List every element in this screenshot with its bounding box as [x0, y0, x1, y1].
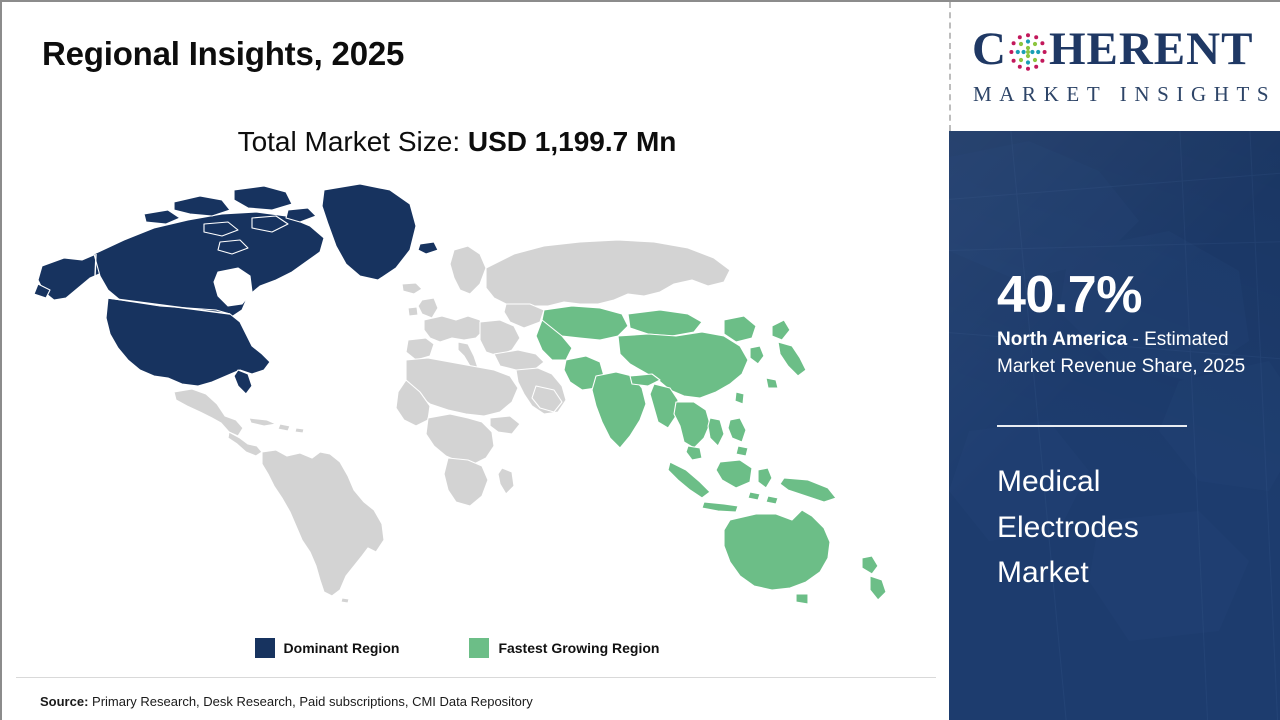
logo-letter-c: C	[972, 26, 1007, 73]
left-content-section: Regional Insights, 2025 Total Market Siz…	[2, 2, 949, 720]
stat-description: North America - Estimated Market Revenue…	[997, 327, 1265, 381]
stat-region-name: North America	[997, 329, 1127, 350]
legend-item-fastest-growing: Fastest Growing Region	[469, 638, 659, 658]
logo-letters-herent: HERENT	[1049, 26, 1254, 73]
panel-divider	[997, 425, 1187, 427]
source-divider	[16, 677, 936, 678]
section-divider	[949, 2, 951, 131]
map-region-asia-pacific	[536, 306, 886, 604]
globe-dots-icon	[1008, 32, 1048, 72]
source-label: Source:	[40, 694, 88, 709]
world-map	[24, 180, 904, 620]
stat-percentage: 40.7%	[997, 269, 1142, 321]
source-text: Primary Research, Desk Research, Paid su…	[88, 694, 532, 709]
legend-item-dominant: Dominant Region	[255, 638, 400, 658]
legend-swatch-fastest-growing-icon	[469, 638, 489, 658]
map-region-other	[174, 240, 730, 603]
logo-wordmark: C	[972, 26, 1253, 73]
total-market-size-label: Total Market Size:	[238, 126, 468, 157]
source-note: Source: Primary Research, Desk Research,…	[40, 694, 533, 709]
legend-swatch-dominant-icon	[255, 638, 275, 658]
company-logo: C	[964, 16, 1274, 116]
page-title: Regional Insights, 2025	[42, 35, 404, 73]
map-region-north-america	[34, 184, 438, 394]
market-title: Medical Electrodes Market	[997, 459, 1212, 596]
map-legend: Dominant Region Fastest Growing Region	[2, 638, 912, 658]
total-market-size: Total Market Size: USD 1,199.7 Mn	[2, 126, 912, 158]
legend-label-dominant: Dominant Region	[284, 640, 400, 656]
legend-label-fastest-growing: Fastest Growing Region	[498, 640, 659, 656]
logo-tagline: MARKET INSIGHTS	[973, 82, 1276, 107]
infographic-canvas: Regional Insights, 2025 Total Market Siz…	[0, 0, 1280, 720]
total-market-size-value: USD 1,199.7 Mn	[468, 126, 677, 157]
highlight-panel: 40.7% North America - Estimated Market R…	[949, 131, 1280, 720]
